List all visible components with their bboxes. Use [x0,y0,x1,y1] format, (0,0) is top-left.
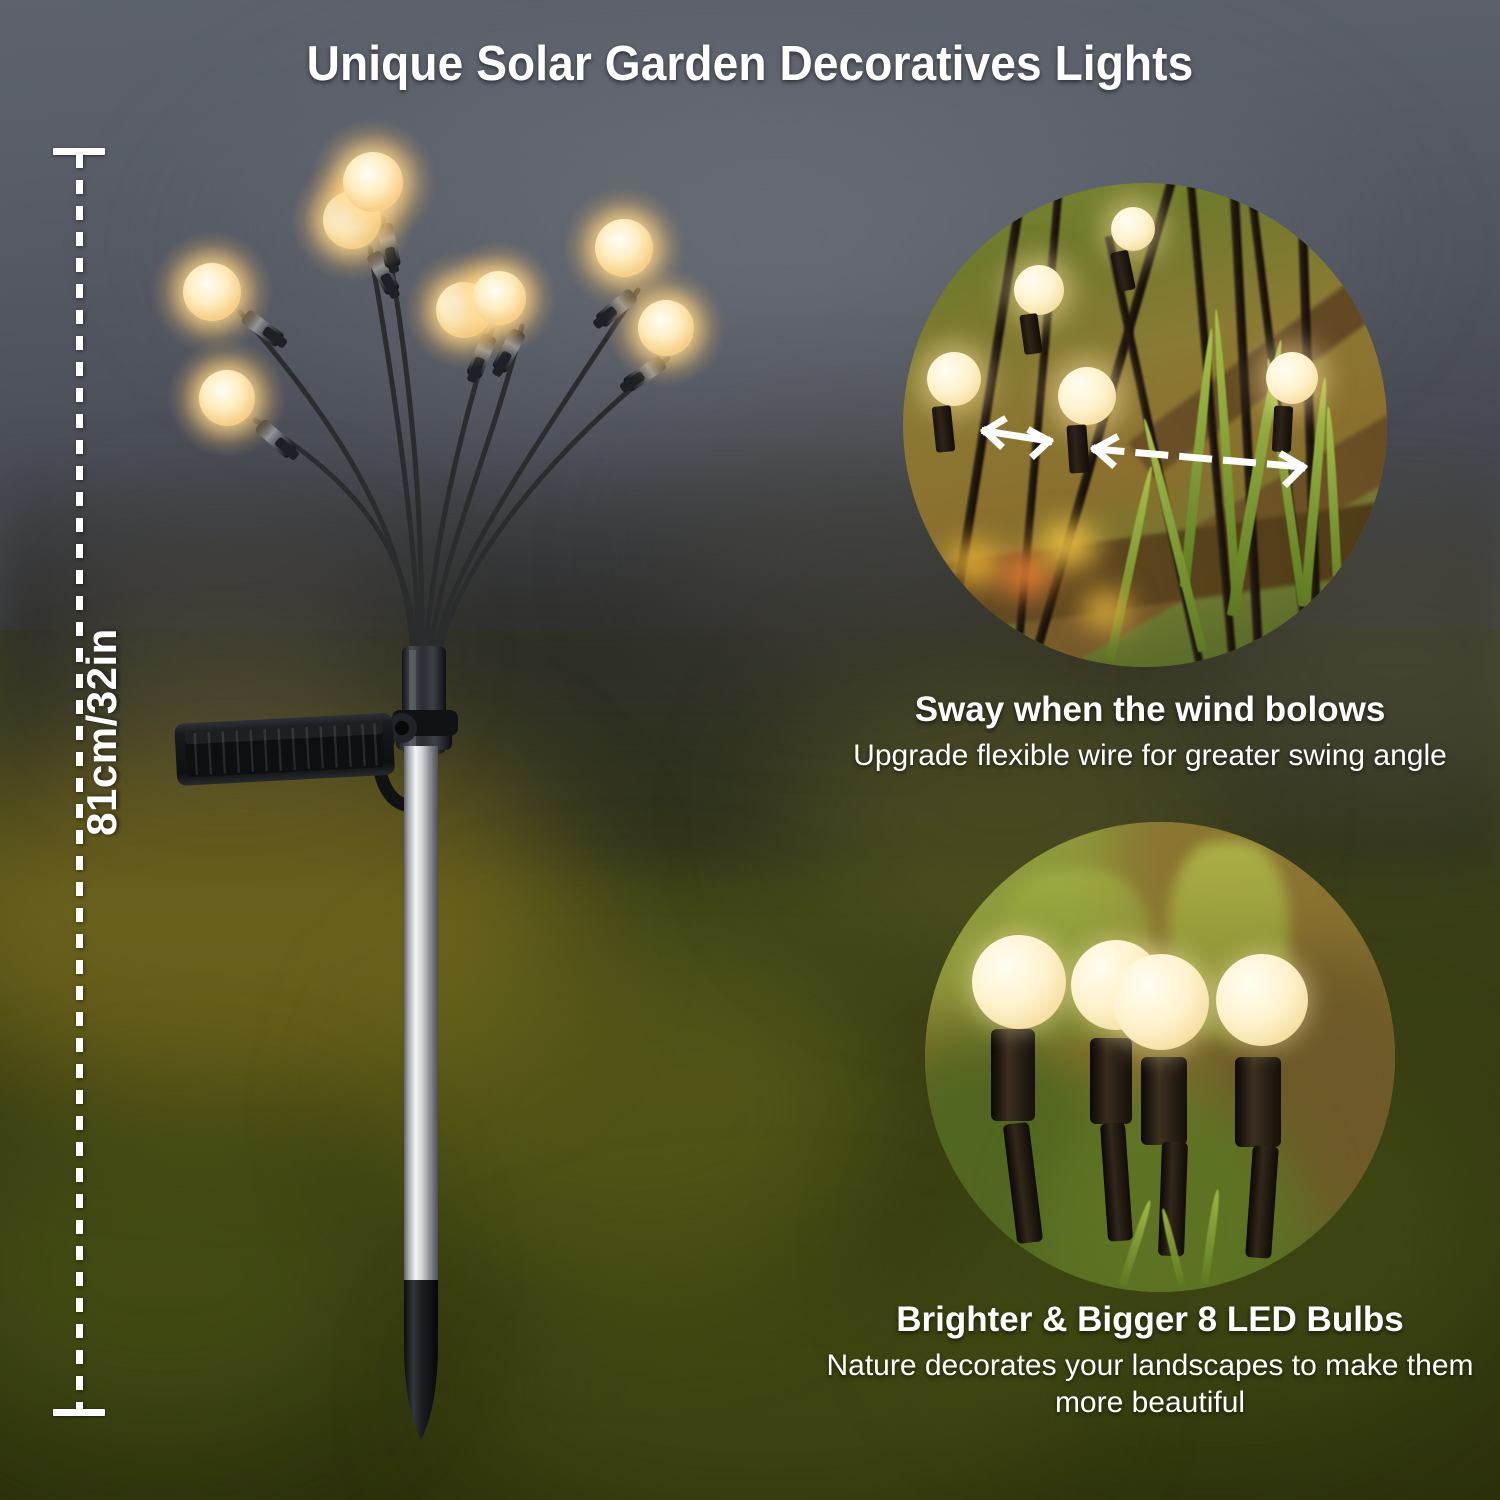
feature-photo-bulbs [925,822,1395,1292]
page-title: Unique Solar Garden Decoratives Lights [45,36,1455,92]
product-illustration [120,130,760,1450]
ground-spike [404,1280,438,1440]
dimension-label: 81cm/32in [78,552,126,912]
stake-pole [404,746,438,1286]
feature-photo-sway [903,183,1387,667]
feature-heading-bulbs: Brighter & Bigger 8 LED Bulbs [800,1300,1500,1340]
dimension-cap-bottom [53,1409,105,1416]
product-marketing-image: Unique Solar Garden Decoratives Lights 8… [0,0,1500,1500]
feature-subtext-sway: Upgrade flexible wire for greater swing … [800,738,1500,775]
feature-heading-sway: Sway when the wind bolows [800,690,1500,730]
led-bulbs [150,118,726,458]
swing-arrow-annotations [903,183,1387,667]
feature-subtext-bulbs: Nature decorates your landscapes to make… [800,1348,1500,1421]
